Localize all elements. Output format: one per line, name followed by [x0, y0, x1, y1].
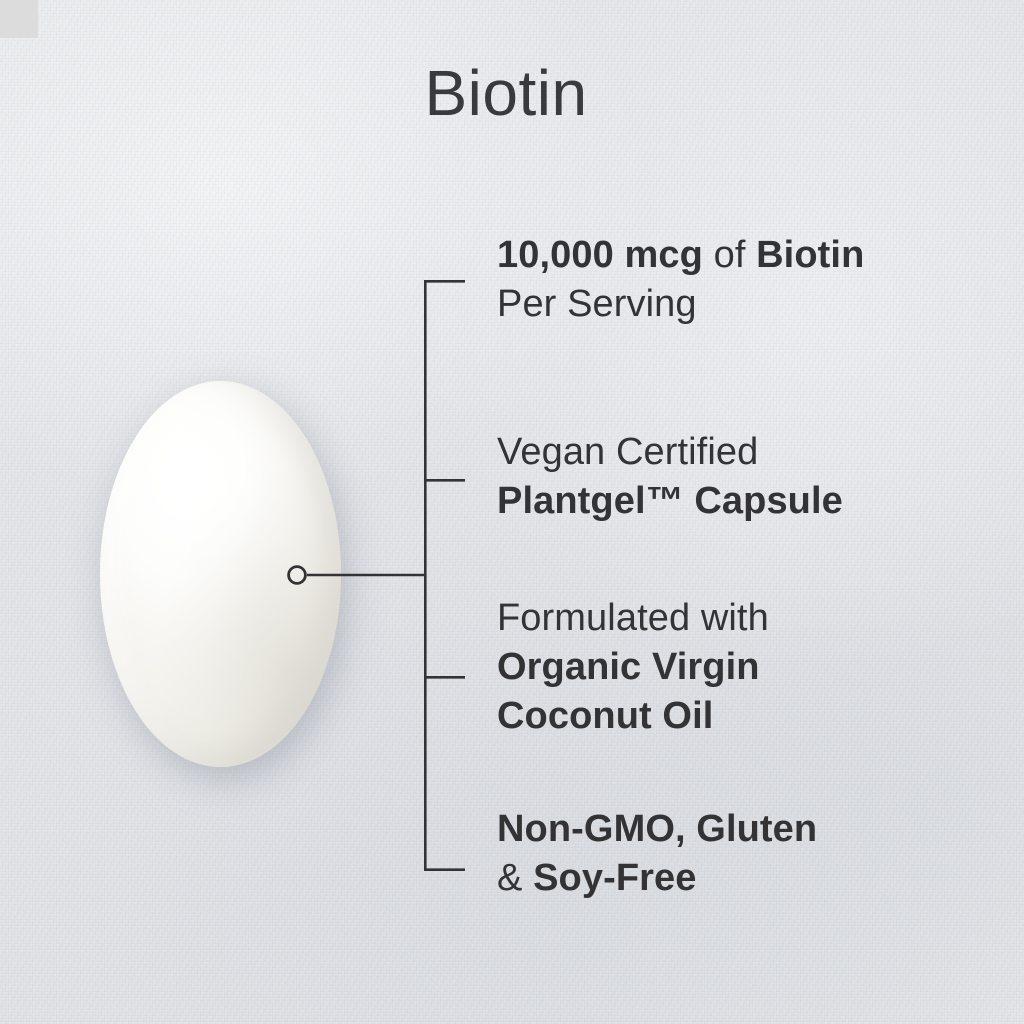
feature-coconut-oil: Formulated withOrganic VirginCoconut Oil — [497, 594, 769, 741]
feature-line: Coconut Oil — [497, 692, 769, 741]
text-run: Vegan Certified — [497, 431, 758, 473]
feature-line: Non-GMO, Gluten — [497, 805, 817, 854]
text-emphasis: Biotin — [756, 234, 864, 276]
text-run: of — [703, 234, 756, 276]
text-emphasis: Organic Virgin — [497, 646, 760, 688]
feature-vegan-capsule: Vegan CertifiedPlantgel™ Capsule — [497, 428, 843, 526]
feature-dosage: 10,000 mcg of BiotinPer Serving — [497, 231, 864, 329]
text-run: Per Serving — [497, 283, 697, 325]
text-run: & — [497, 857, 533, 899]
feature-line: Organic Virgin — [497, 643, 769, 692]
feature-line: Vegan Certified — [497, 428, 843, 477]
infographic-canvas: Biotin 10,000 mcg of BiotinPer Serving V… — [0, 0, 1024, 1024]
feature-line: 10,000 mcg of Biotin — [497, 231, 864, 280]
text-emphasis: Non-GMO, Gluten — [497, 808, 817, 850]
feature-line: Per Serving — [497, 280, 864, 329]
text-emphasis: Coconut Oil — [497, 695, 713, 737]
feature-line: & Soy-Free — [497, 854, 817, 903]
text-emphasis: Plantgel™ Capsule — [497, 480, 843, 522]
text-emphasis: Soy-Free — [533, 857, 696, 899]
feature-line: Formulated with — [497, 594, 769, 643]
feature-non-gmo: Non-GMO, Gluten& Soy-Free — [497, 805, 817, 903]
feature-line: Plantgel™ Capsule — [497, 477, 843, 526]
text-run: Formulated with — [497, 597, 769, 639]
circle-marker — [289, 567, 306, 584]
text-emphasis: 10,000 mcg — [497, 234, 703, 276]
